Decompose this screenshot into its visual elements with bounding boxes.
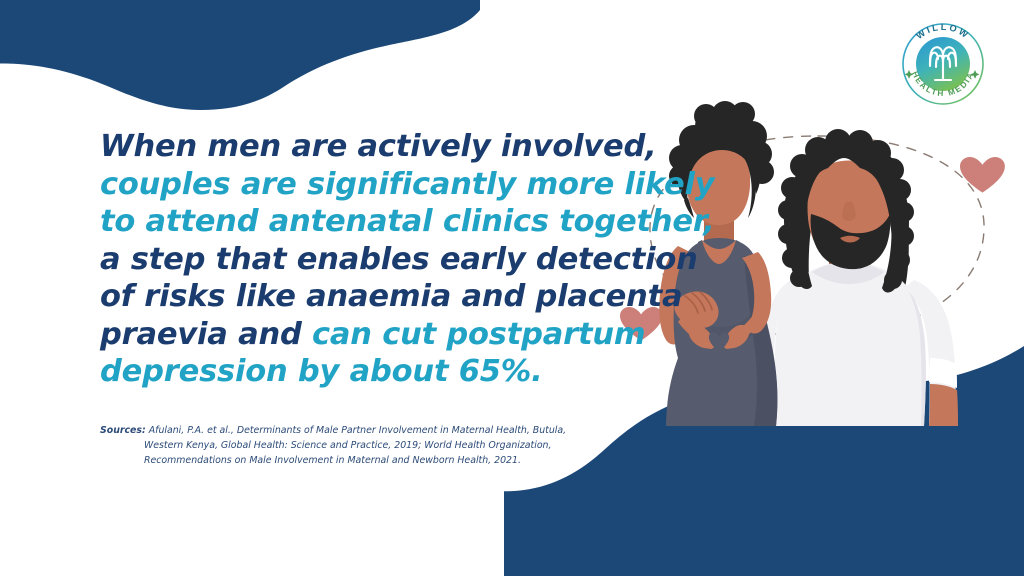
sources-line-3: Recommendations on Male Involvement in M… <box>100 453 600 468</box>
quote-segment: can cut postpartum <box>312 317 645 352</box>
quote-line-7: depression by about 65%. <box>100 353 620 391</box>
quote-segment: depression by about 65%. <box>100 354 543 389</box>
sources-label: Sources: <box>100 425 146 436</box>
quote-line-4: a step that enables early detection <box>100 241 620 279</box>
partner-man-figure <box>760 129 958 426</box>
sources-line-2: Western Kenya, Global Health: Science an… <box>100 438 600 453</box>
quote-segment: When men are actively involved, <box>100 129 657 164</box>
quote-line-5: of risks like anaemia and placenta <box>100 278 620 316</box>
willow-health-media-logo[interactable]: WILLOW HEALTH MEDIA <box>897 18 989 110</box>
quote-line-2: couples are significantly more likely <box>100 166 620 204</box>
quote-text-block: When men are actively involved, couples … <box>100 128 620 391</box>
decorative-navy-blob-top-left <box>0 0 480 140</box>
quote-line-6: praevia and can cut postpartum <box>100 316 620 354</box>
quote-line-3: to attend antenatal clinics together, <box>100 203 620 241</box>
quote-segment: a step that enables early detection <box>100 242 698 277</box>
infographic-canvas: When men are actively involved, couples … <box>0 0 1024 576</box>
quote-segment: of risks like anaemia and placenta <box>100 279 682 314</box>
sources-line-1: Sources: Afulani, P.A. et al., Determina… <box>100 423 600 438</box>
sources-citation-1: Afulani, P.A. et al., Determinants of Ma… <box>149 425 566 436</box>
sources-block: Sources: Afulani, P.A. et al., Determina… <box>100 423 600 469</box>
quote-segment: to attend antenatal clinics together, <box>100 204 715 239</box>
man-forearm <box>929 384 958 426</box>
quote-line-1: When men are actively involved, <box>100 128 620 166</box>
heart-right-icon <box>960 157 1005 193</box>
quote-segment: couples are significantly more likely <box>100 167 714 202</box>
quote-segment: praevia and <box>100 317 312 352</box>
